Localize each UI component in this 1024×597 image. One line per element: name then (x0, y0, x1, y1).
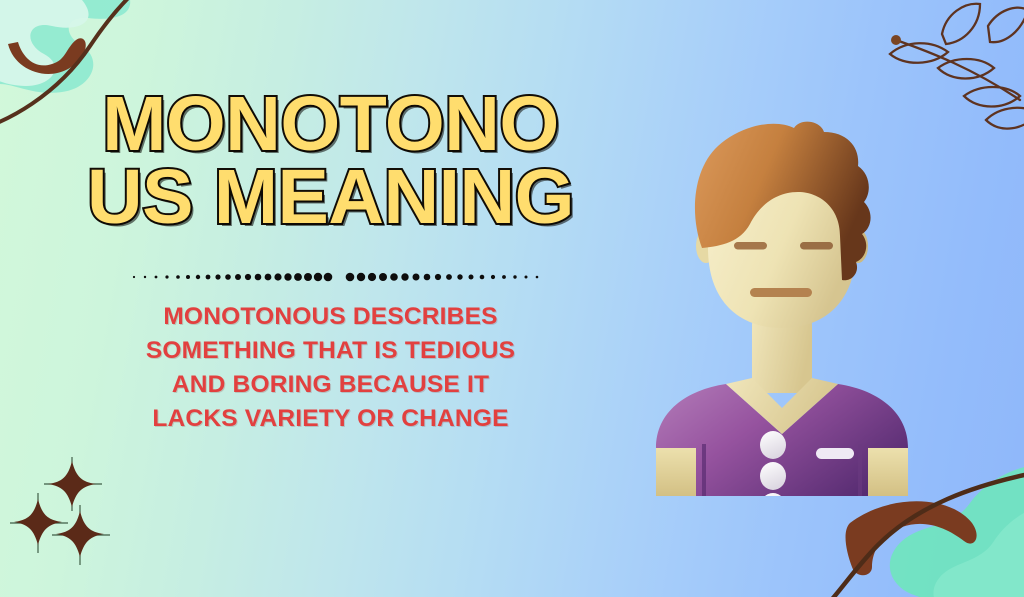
mouth-flat (750, 288, 812, 297)
left-arm-cuff (656, 448, 696, 496)
sparkle-shape (56, 511, 104, 557)
text-column: MONOTONO US MEANING (58, 88, 603, 435)
sparkle-shape (14, 499, 62, 545)
brush-swoosh-shape (8, 38, 86, 74)
leaf-shape (890, 43, 948, 63)
bored-person-illustration (634, 96, 934, 496)
right-eye-closed (800, 242, 833, 250)
left-eye-closed (734, 242, 767, 250)
teal-blob-inner (0, 0, 89, 86)
branch-tip-dot (891, 35, 901, 45)
teal-blob-inner (933, 504, 1024, 597)
brush-swoosh-shape (846, 501, 977, 575)
teal-blob-shape (0, 0, 130, 93)
dotted-divider-graphic (58, 260, 603, 294)
leaf-shape (938, 59, 994, 79)
branch-stem (896, 40, 1020, 100)
leaf-shape (942, 4, 980, 44)
right-shirt-seam (858, 444, 862, 496)
definition-text: MONOTONOUS DESCRIBES SOMETHING THAT IS T… (58, 300, 603, 435)
leaf-shape (988, 8, 1024, 42)
sparkle-shape (48, 461, 96, 507)
leaf-shape (964, 87, 1020, 107)
leaf-shape (986, 108, 1024, 129)
poster-canvas: MONOTONO US MEANING (0, 0, 1024, 597)
right-arm-cuff (868, 448, 908, 496)
left-shirt-seam (702, 444, 706, 496)
shirt-button (760, 462, 786, 490)
page-title: MONOTONO US MEANING (58, 88, 603, 234)
pocket-pen-detail (816, 448, 854, 459)
divider (58, 260, 603, 294)
bottom-left-sparkles-decoration (10, 435, 180, 575)
shirt-button (760, 431, 786, 459)
